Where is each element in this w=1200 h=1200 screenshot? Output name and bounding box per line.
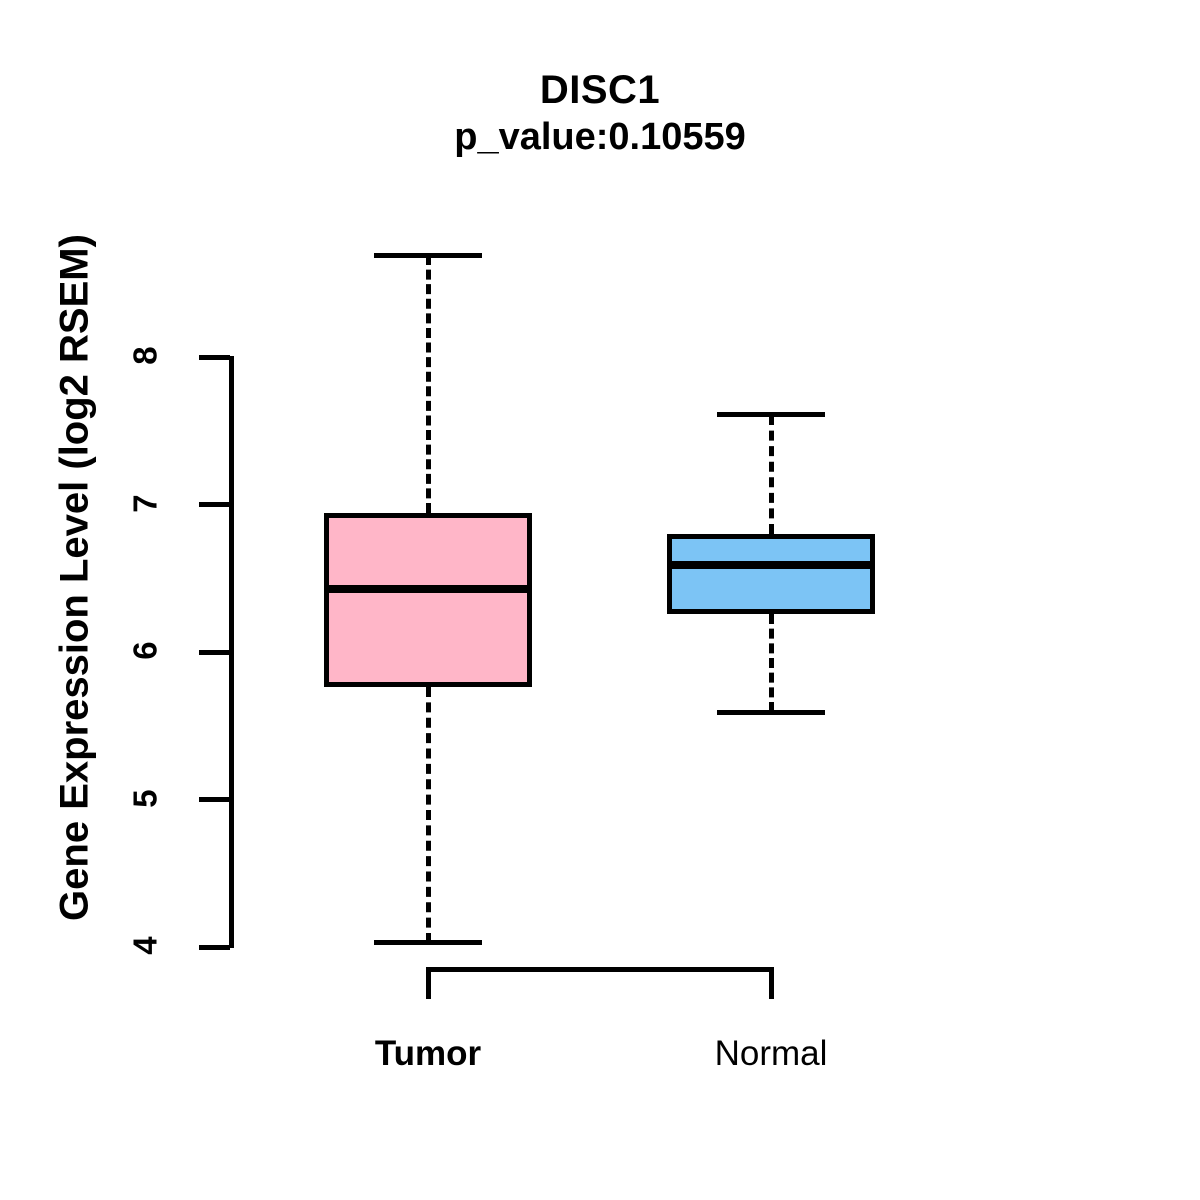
y-axis-title: Gene Expression Level (log2 RSEM) xyxy=(53,178,98,978)
chart-subtitle-pvalue: p_value:0.10559 xyxy=(0,118,1200,156)
x-axis-tick xyxy=(769,967,774,999)
whisker-lower xyxy=(769,614,774,713)
whisker-upper xyxy=(426,255,431,513)
y-axis-tick xyxy=(199,355,230,360)
box-normal xyxy=(667,534,875,614)
median-line-tumor xyxy=(324,585,532,593)
chart-title: DISC1 xyxy=(0,70,1200,110)
y-axis-tick-label: 5 xyxy=(129,768,162,828)
whisker-lower xyxy=(426,687,431,942)
y-axis-tick xyxy=(199,650,230,655)
y-axis-tick xyxy=(199,945,230,950)
y-axis-tick-label: 7 xyxy=(129,473,162,533)
x-axis-label-normal: Normal xyxy=(641,1036,901,1071)
whisker-cap-lower xyxy=(717,710,825,715)
x-axis-label-tumor: Tumor xyxy=(298,1036,558,1071)
whisker-cap-lower xyxy=(374,940,482,945)
y-axis-tick xyxy=(199,797,230,802)
x-axis-tick xyxy=(426,967,431,999)
y-axis-tick-label: 4 xyxy=(129,916,162,976)
boxplot-figure: DISC1 p_value:0.10559 Gene Expression Le… xyxy=(0,0,1200,1200)
whisker-upper xyxy=(769,415,774,534)
y-axis-tick xyxy=(199,502,230,507)
whisker-cap-upper xyxy=(717,412,825,417)
x-axis-line xyxy=(426,967,774,972)
whisker-cap-upper xyxy=(374,253,482,258)
y-axis-tick-label: 8 xyxy=(129,326,162,386)
median-line-normal xyxy=(667,561,875,569)
box-tumor xyxy=(324,513,532,687)
y-axis-tick-label: 6 xyxy=(129,621,162,681)
